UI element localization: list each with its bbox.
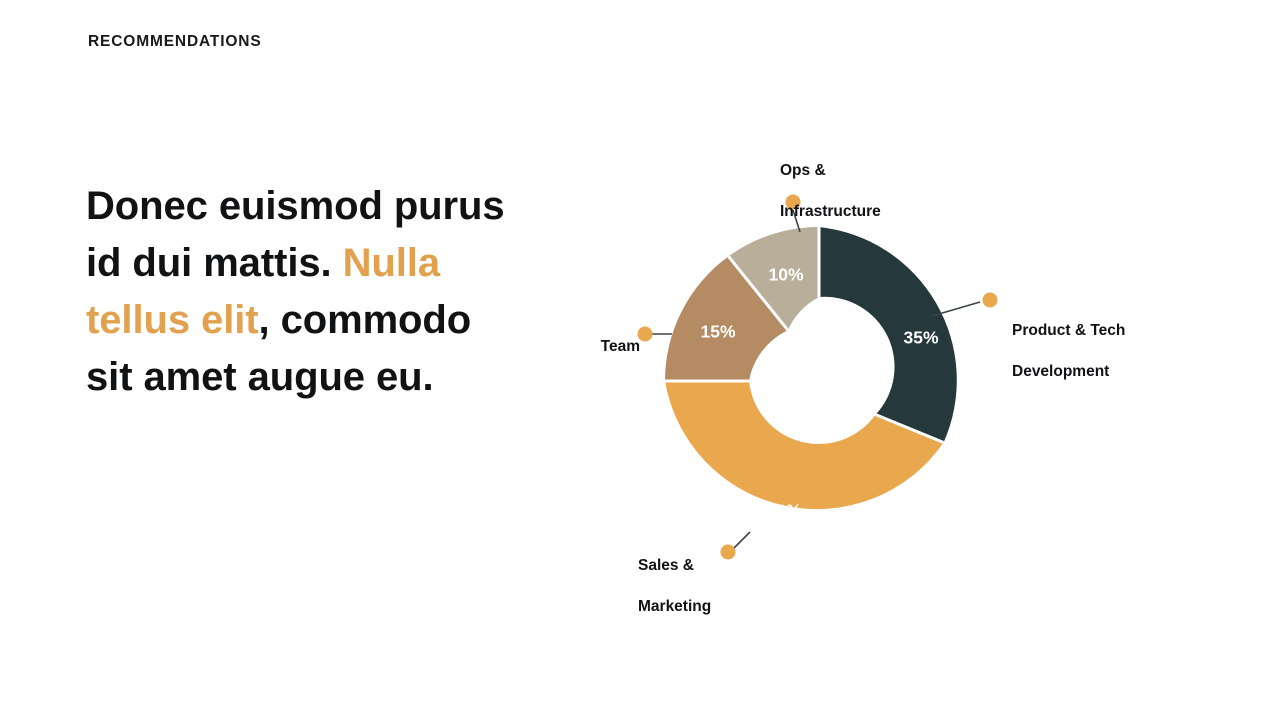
callout-ops-line1: Ops &	[780, 161, 881, 182]
callout-sales-line2: Marketing	[638, 597, 711, 618]
marker-dot-product-tech[interactable]	[983, 293, 998, 308]
slice-value-ops-infrastructure: 10%	[768, 265, 803, 285]
callout-label-sales-marketing[interactable]: Sales & Marketing	[638, 535, 711, 638]
callout-product-line2: Development	[1012, 362, 1125, 383]
marker-dot-sales-marketing[interactable]	[721, 545, 736, 560]
slide-canvas: RECOMMENDATIONS Donec euismod purus id d…	[0, 0, 1280, 720]
callout-team-line1: Team	[560, 337, 640, 358]
callout-ops-line2: Infrastructure	[780, 202, 881, 223]
leader-line-sales-marketing	[734, 532, 750, 548]
slice-value-product-tech: 35%	[903, 328, 938, 348]
callout-label-ops-infrastructure[interactable]: Ops & Infrastructure	[780, 140, 881, 243]
callout-sales-line1: Sales &	[638, 556, 711, 577]
callout-label-team[interactable]: Team	[560, 316, 640, 378]
callout-label-product-tech[interactable]: Product & Tech Development	[1012, 300, 1125, 403]
headline-text-part1: Donec euismod purus id dui mattis.	[86, 184, 505, 285]
slice-value-sales-marketing: 40%	[766, 501, 801, 521]
slice-value-team: 15%	[700, 322, 735, 342]
section-eyebrow-title: RECOMMENDATIONS	[88, 33, 262, 51]
donut-chart: 35% 40% 15% 10% Ops & Infrastructure	[560, 120, 1220, 620]
callout-product-line1: Product & Tech	[1012, 321, 1125, 342]
headline-paragraph: Donec euismod purus id dui mattis. Nulla…	[86, 178, 516, 406]
